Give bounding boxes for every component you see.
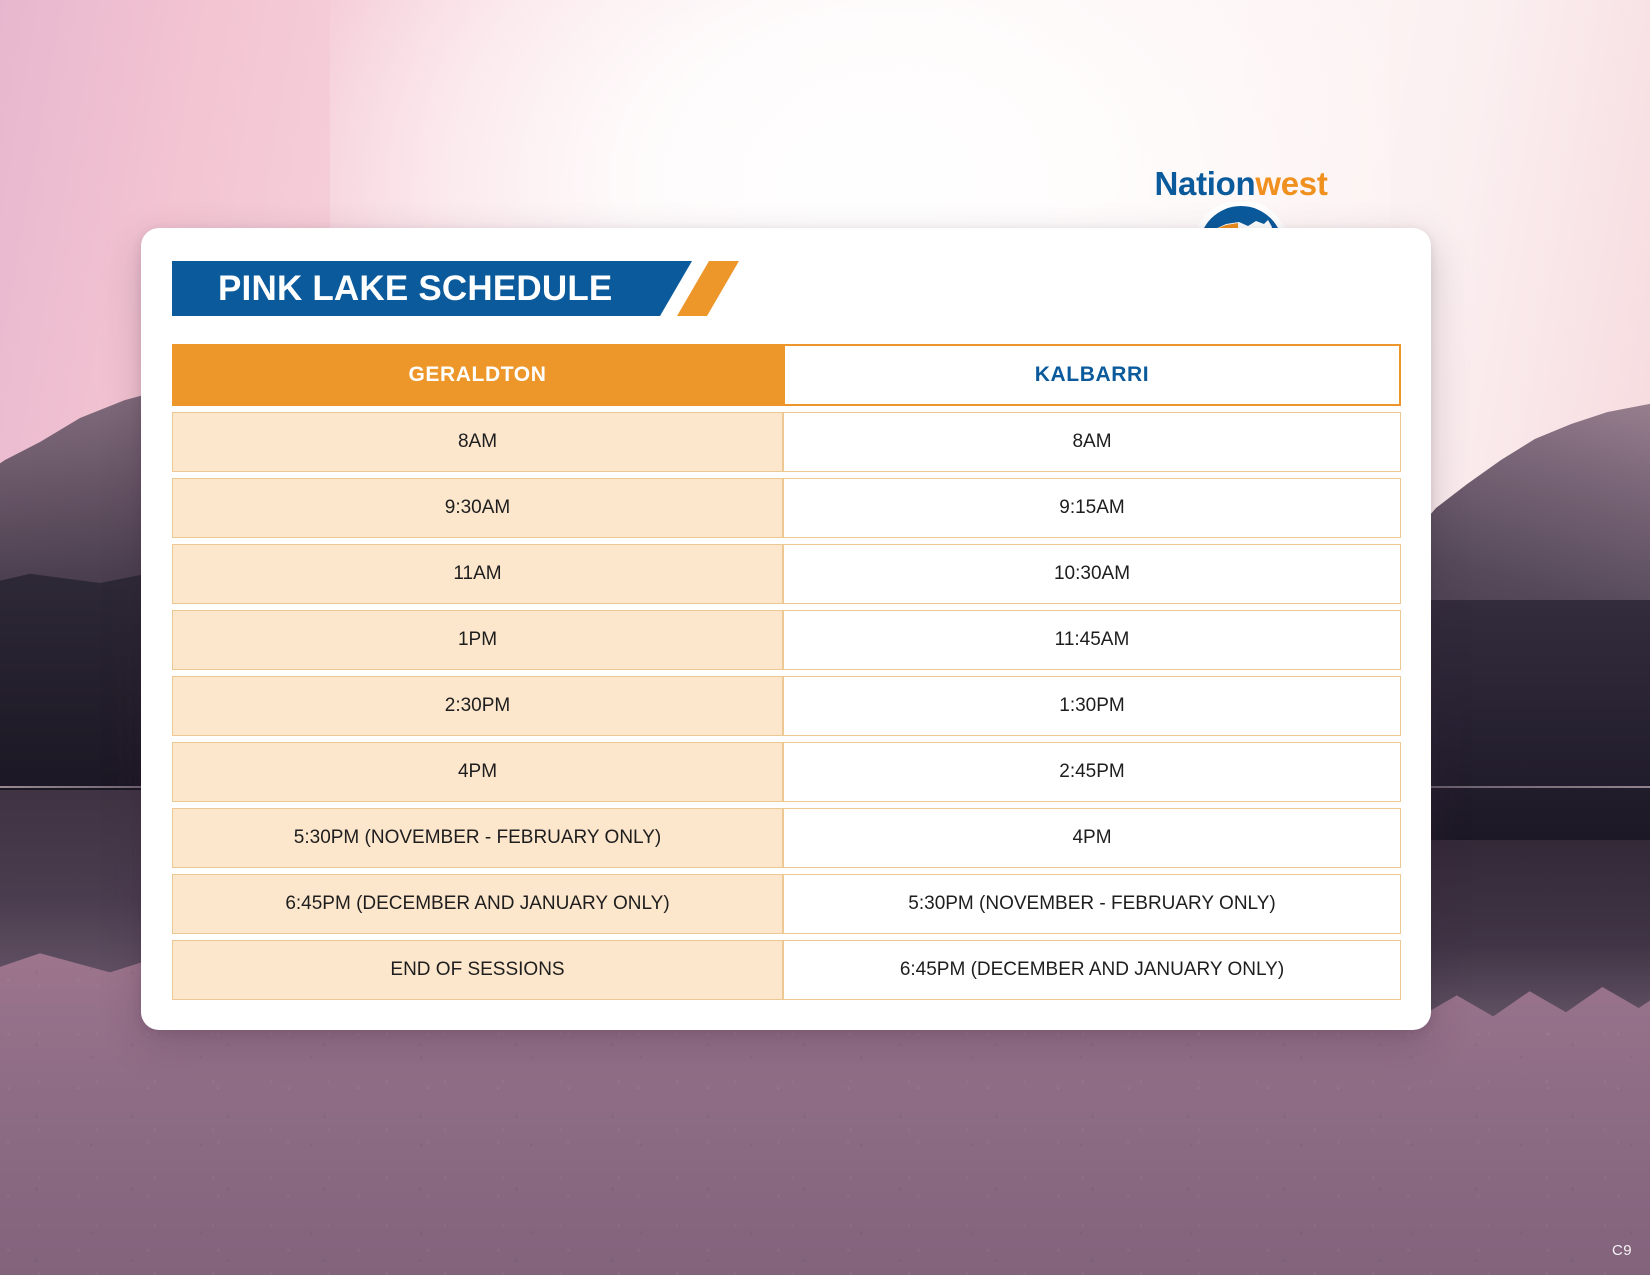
table-row: 9:30AM9:15AM bbox=[172, 478, 1401, 538]
schedule-cell: 4PM bbox=[172, 742, 783, 802]
table-row: 6:45PM (DECEMBER AND JANUARY ONLY)5:30PM… bbox=[172, 874, 1401, 934]
schedule-cell: 4PM bbox=[783, 808, 1401, 868]
right-forest bbox=[1410, 600, 1650, 840]
schedule-cell: END OF SESSIONS bbox=[172, 940, 783, 1000]
page-title: PINK LAKE SCHEDULE bbox=[172, 269, 612, 309]
slide-corner-code: C9 bbox=[1612, 1242, 1632, 1259]
schedule-cell: 6:45PM (DECEMBER AND JANUARY ONLY) bbox=[783, 940, 1401, 1000]
schedule-header-row: GERALDTONKALBARRI bbox=[172, 344, 1401, 406]
schedule-card: PINK LAKE SCHEDULE GERALDTONKALBARRI8AM8… bbox=[141, 228, 1431, 1030]
column-header-kalbarri: KALBARRI bbox=[783, 344, 1401, 406]
schedule-cell: 11:45AM bbox=[783, 610, 1401, 670]
schedule-cell: 8AM bbox=[172, 412, 783, 472]
schedule-table: GERALDTONKALBARRI8AM8AM9:30AM9:15AM11AM1… bbox=[172, 344, 1401, 1000]
title-banner: PINK LAKE SCHEDULE bbox=[172, 261, 732, 316]
schedule-cell: 8AM bbox=[783, 412, 1401, 472]
schedule-cell: 11AM bbox=[172, 544, 783, 604]
schedule-cell: 10:30AM bbox=[783, 544, 1401, 604]
slide-canvas: Nationwest bbox=[0, 0, 1650, 1275]
schedule-cell: 5:30PM (NOVEMBER - FEBRUARY ONLY) bbox=[172, 808, 783, 868]
schedule-cell: 9:15AM bbox=[783, 478, 1401, 538]
schedule-cell: 9:30AM bbox=[172, 478, 783, 538]
table-row: 4PM2:45PM bbox=[172, 742, 1401, 802]
table-row: END OF SESSIONS6:45PM (DECEMBER AND JANU… bbox=[172, 940, 1401, 1000]
title-banner-blue: PINK LAKE SCHEDULE bbox=[172, 261, 692, 316]
schedule-cell: 2:45PM bbox=[783, 742, 1401, 802]
schedule-cell: 6:45PM (DECEMBER AND JANUARY ONLY) bbox=[172, 874, 783, 934]
schedule-cell: 5:30PM (NOVEMBER - FEBRUARY ONLY) bbox=[783, 874, 1401, 934]
table-row: 5:30PM (NOVEMBER - FEBRUARY ONLY)4PM bbox=[172, 808, 1401, 868]
table-row: 1PM11:45AM bbox=[172, 610, 1401, 670]
column-header-geraldton: GERALDTON bbox=[172, 344, 783, 406]
table-row: 11AM10:30AM bbox=[172, 544, 1401, 604]
table-row: 8AM8AM bbox=[172, 412, 1401, 472]
schedule-cell: 2:30PM bbox=[172, 676, 783, 736]
table-row: 2:30PM1:30PM bbox=[172, 676, 1401, 736]
schedule-cell: 1:30PM bbox=[783, 676, 1401, 736]
schedule-cell: 1PM bbox=[172, 610, 783, 670]
